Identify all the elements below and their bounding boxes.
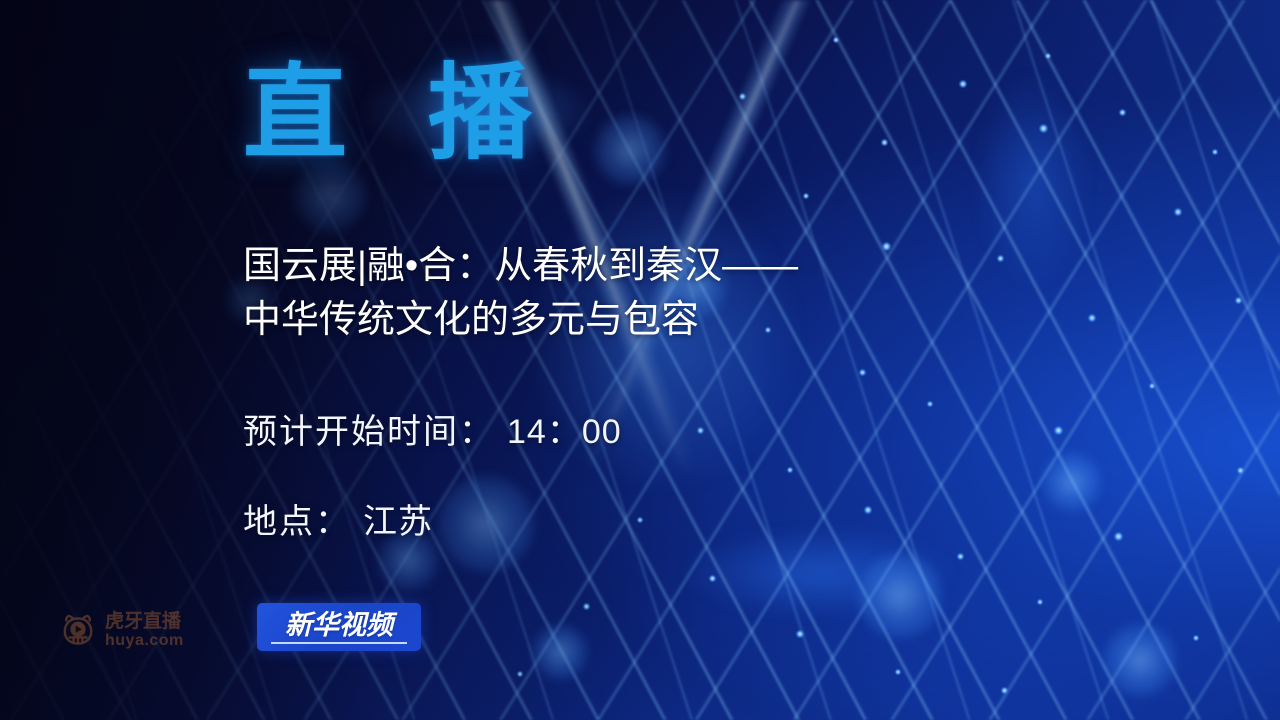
location-label: 地点： [243,503,351,541]
program-title: 国云展|融•合：从春秋到秦汉—— 中华传统文化的多元与包容 [243,240,1003,348]
huya-brand-cn: 虎牙直播 [105,612,184,631]
program-title-line-1: 国云展|融•合：从春秋到秦汉—— [243,240,1003,294]
start-time-value: 14：00 [507,413,622,451]
card-content: 直 播 国云展|融•合：从春秋到秦汉—— 中华传统文化的多元与包容 预计开始时间… [0,0,1280,720]
livestream-card: 直 播 国云展|融•合：从春秋到秦汉—— 中华传统文化的多元与包容 预计开始时间… [0,0,1280,720]
huya-tiger-play-icon [58,610,98,650]
live-label: 直 播 [243,62,558,166]
badge-underline [271,642,407,644]
start-time-row: 预计开始时间：14：00 [243,415,622,449]
huya-watermark-text: 虎牙直播 huya.com [105,612,184,649]
location-row: 地点：江苏 [243,505,433,539]
xinhua-video-badge[interactable]: 新华视频 [257,603,421,651]
xinhua-video-badge-label: 新华视频 [285,612,393,639]
location-value: 江苏 [363,503,433,541]
huya-brand-url: huya.com [105,633,184,649]
huya-watermark: 虎牙直播 huya.com [58,610,184,650]
start-time-label: 预计开始时间： [243,413,495,451]
program-title-line-2: 中华传统文化的多元与包容 [243,294,1003,348]
